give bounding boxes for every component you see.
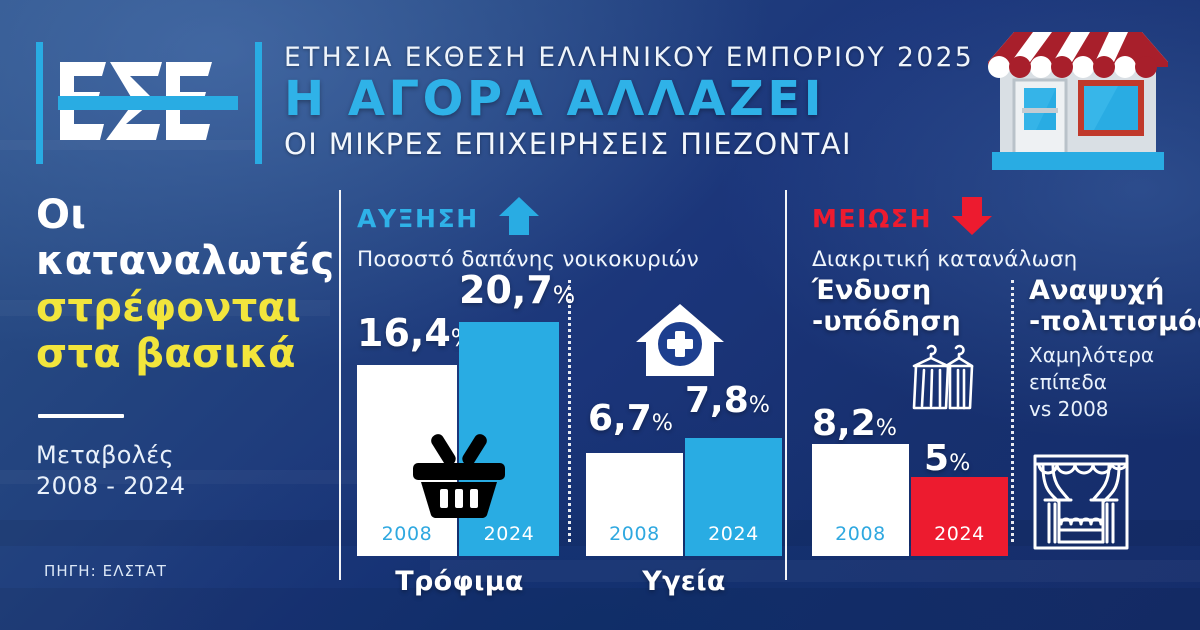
bar-year-label: 2008 bbox=[812, 523, 909, 545]
logo-accent-bar-right bbox=[255, 42, 262, 164]
value-clothing-2024: 5% bbox=[924, 438, 970, 479]
lead-line-1: Οι bbox=[36, 192, 332, 238]
header-titles: ΕΤΗΣΙΑ ΕΚΘΕΣΗ ΕΛΛΗΝΙΚΟΥ ΕΜΠΟΡΙΟΥ 2025 Η … bbox=[284, 44, 944, 159]
period-line-1: Μεταβολές bbox=[36, 440, 332, 471]
label-clothing-line-2: -υπόδηση bbox=[812, 307, 961, 338]
leisure-note-line-1: Χαμηλότερα bbox=[1029, 342, 1154, 369]
bar-group-food: 16,4% 20,7% 2008 2024 Τρόφιμα bbox=[357, 190, 562, 556]
dotted-separator-1 bbox=[568, 280, 571, 542]
value-food-2008: 16,4% bbox=[357, 311, 473, 355]
page-title: Η ΑΓΟΡΑ ΑΛΛΑΖΕΙ bbox=[284, 73, 944, 127]
value-clothing-2008: 8,2% bbox=[812, 403, 897, 444]
bar-group-clothing: Ένδυση -υπόδηση 8,2% 5% bbox=[812, 190, 1002, 556]
lead-statement: Οι καταναλωτές στρέφονται στα βασικά bbox=[36, 192, 332, 378]
category-label-food: Τρόφιμα bbox=[357, 566, 562, 597]
esee-logo[interactable] bbox=[36, 38, 266, 168]
category-label-health: Υγεία bbox=[586, 566, 782, 597]
separator-right bbox=[785, 190, 787, 580]
leisure-note: Χαμηλότερα επίπεδα vs 2008 bbox=[1029, 342, 1154, 422]
storefront-icon bbox=[978, 22, 1178, 172]
bar-year-label: 2024 bbox=[685, 523, 782, 545]
divider-rule bbox=[38, 414, 124, 418]
bar-year-label: 2024 bbox=[911, 523, 1008, 545]
health-house-icon bbox=[634, 300, 726, 380]
lead-line-2: καταναλωτές bbox=[36, 238, 332, 284]
page-subtitle: ΟΙ ΜΙΚΡΕΣ ΕΠΙΧΕΙΡΗΣΕΙΣ ΠΙΕΖΟΝΤΑΙ bbox=[284, 129, 944, 159]
bar-year-label: 2024 bbox=[459, 523, 559, 545]
label-leisure: Αναψυχή -πολιτισμός bbox=[1029, 276, 1200, 337]
infographic-canvas: ΕΤΗΣΙΑ ΕΚΘΕΣΗ ΕΛΛΗΝΙΚΟΥ ΕΜΠΟΡΙΟΥ 2025 Η … bbox=[0, 0, 1200, 630]
value-health-2024: 7,8% bbox=[685, 380, 770, 421]
bar-health-2008[interactable]: 2008 bbox=[586, 453, 683, 556]
label-clothing-line-1: Ένδυση bbox=[812, 276, 961, 307]
report-kicker: ΕΤΗΣΙΑ ΕΚΘΕΣΗ ΕΛΛΗΝΙΚΟΥ ΕΜΠΟΡΙΟΥ 2025 bbox=[284, 44, 944, 72]
label-leisure-line-1: Αναψυχή bbox=[1029, 276, 1200, 307]
period-line-2: 2008 - 2024 bbox=[36, 471, 332, 502]
bar-clothing-2024[interactable]: 2024 bbox=[911, 477, 1008, 556]
leisure-block: Αναψυχή -πολιτισμός Χαμηλότερα επίπεδα v… bbox=[1029, 190, 1189, 556]
label-clothing: Ένδυση -υπόδηση bbox=[812, 276, 961, 337]
bar-group-health: 6,7% 7,8% 2008 2024 Υγεία bbox=[586, 190, 773, 556]
label-leisure-line-2: -πολιτισμός bbox=[1029, 307, 1200, 338]
lead-line-4: στα βασικά bbox=[36, 331, 332, 377]
clothes-hangers-icon bbox=[906, 336, 978, 414]
bar-year-label: 2008 bbox=[586, 523, 683, 545]
value-health-2008: 6,7% bbox=[588, 398, 673, 439]
source-label: ΠΗΓΗ: ΕΛΣΤΑΤ bbox=[44, 562, 167, 580]
bar-health-2024[interactable]: 2024 bbox=[685, 438, 782, 556]
period-label: Μεταβολές 2008 - 2024 bbox=[36, 440, 332, 502]
value-food-2024: 20,7% bbox=[459, 268, 575, 312]
bar-year-label: 2008 bbox=[357, 523, 457, 545]
shopping-basket-icon bbox=[407, 427, 511, 519]
leisure-note-line-3: vs 2008 bbox=[1029, 396, 1154, 423]
theater-stage-icon bbox=[1029, 450, 1133, 554]
esee-logo-mark bbox=[58, 56, 238, 152]
separator-left bbox=[339, 190, 341, 580]
bar-clothing-2008[interactable]: 2008 bbox=[812, 444, 909, 556]
dotted-separator-2 bbox=[1011, 280, 1014, 542]
lead-line-3: στρέφονται bbox=[36, 285, 332, 331]
logo-accent-bar-left bbox=[36, 42, 43, 164]
leisure-note-line-2: επίπεδα bbox=[1029, 369, 1154, 396]
left-panel: Οι καταναλωτές στρέφονται στα βασικά Μετ… bbox=[36, 192, 332, 502]
